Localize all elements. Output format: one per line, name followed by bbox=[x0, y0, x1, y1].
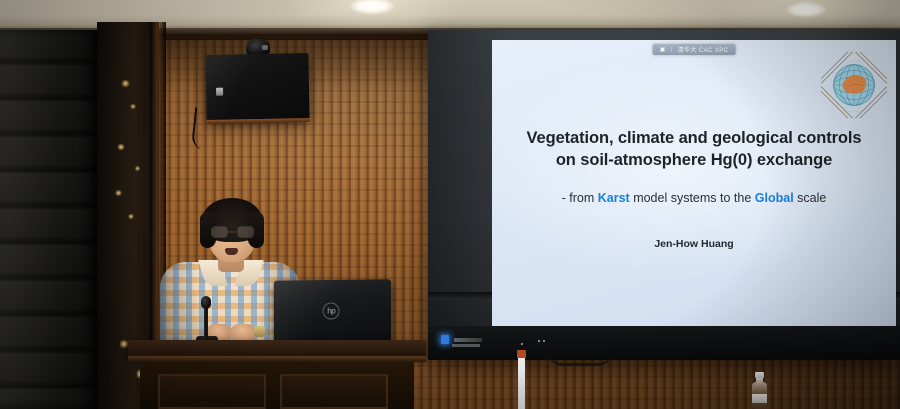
bezel-slot bbox=[454, 338, 482, 342]
gooseneck-microphone bbox=[201, 296, 211, 309]
svg-text:············: ············ bbox=[848, 59, 860, 63]
floor-cable-loop bbox=[548, 352, 612, 366]
slide-subtitle-highlight-global: Global bbox=[755, 191, 794, 205]
lectern-body bbox=[140, 362, 414, 409]
banner-separator: | bbox=[671, 47, 673, 53]
presentation-photo-scene: ▣ | 清华大 CAC XPC bbox=[0, 0, 900, 409]
hanging-cable bbox=[518, 356, 525, 409]
slide-subtitle: - from Karst model systems to the Global… bbox=[492, 190, 896, 206]
bezel-accent-bar bbox=[452, 344, 480, 347]
light-reflection-6 bbox=[128, 214, 134, 219]
lectern-panel-right bbox=[280, 374, 388, 409]
institution-logo: ············ ············ bbox=[821, 52, 887, 118]
hp-logo-icon: hp bbox=[323, 302, 340, 319]
presentation-screen[interactable]: ▣ | 清华大 CAC XPC bbox=[428, 30, 900, 360]
bezel-indicator-dot-1 bbox=[521, 343, 523, 345]
glasses-lens-right bbox=[237, 226, 254, 238]
glasses-lens-left bbox=[211, 226, 228, 238]
slide-title: Vegetation, climate and geological contr… bbox=[492, 128, 896, 172]
slide-content-area: ▣ | 清华大 CAC XPC bbox=[492, 40, 896, 328]
light-reflection-3 bbox=[117, 144, 125, 150]
speaker-wristwatch bbox=[254, 326, 265, 337]
presenter-laptop[interactable]: hp bbox=[274, 279, 391, 343]
slide-subtitle-suffix: scale bbox=[794, 191, 827, 205]
banner-text: 清华大 CAC XPC bbox=[678, 45, 729, 54]
monitor-brand-mark bbox=[216, 88, 223, 96]
bezel-indicator-dot-2 bbox=[538, 340, 540, 342]
slide-subtitle-middle: model systems to the bbox=[630, 191, 755, 205]
bottle-label bbox=[752, 394, 767, 403]
svg-text:············: ············ bbox=[848, 110, 860, 114]
acoustic-wall-panels bbox=[0, 30, 97, 409]
slide-subtitle-highlight-karst: Karst bbox=[598, 191, 630, 205]
slide-top-banner: ▣ | 清华大 CAC XPC bbox=[653, 44, 736, 55]
screen-bottom-bezel bbox=[428, 326, 900, 360]
lectern-panel-left bbox=[158, 374, 266, 409]
light-reflection-5 bbox=[115, 190, 122, 196]
bezel-indicator-dot-3 bbox=[543, 340, 545, 342]
ceiling-downlight-2-icon bbox=[786, 2, 826, 17]
power-led-icon bbox=[441, 335, 449, 344]
light-reflection-4 bbox=[135, 166, 140, 171]
light-reflection-1 bbox=[121, 80, 130, 87]
glasses-bridge bbox=[228, 231, 237, 233]
slide-title-line-1: Vegetation, climate and geological contr… bbox=[492, 128, 896, 150]
monitor-small-icon: ▣ bbox=[660, 47, 666, 53]
light-reflection-2 bbox=[130, 104, 136, 109]
slide-author: Jen-How Huang bbox=[492, 238, 896, 250]
slide-title-line-2: on soil-atmosphere Hg(0) exchange bbox=[492, 150, 896, 172]
water-bottle[interactable] bbox=[752, 372, 767, 409]
wall-mounted-monitor[interactable] bbox=[205, 53, 309, 121]
slide-subtitle-prefix: - from bbox=[562, 191, 598, 205]
speaker-glasses bbox=[210, 226, 255, 238]
speaker-mouth bbox=[225, 248, 238, 255]
